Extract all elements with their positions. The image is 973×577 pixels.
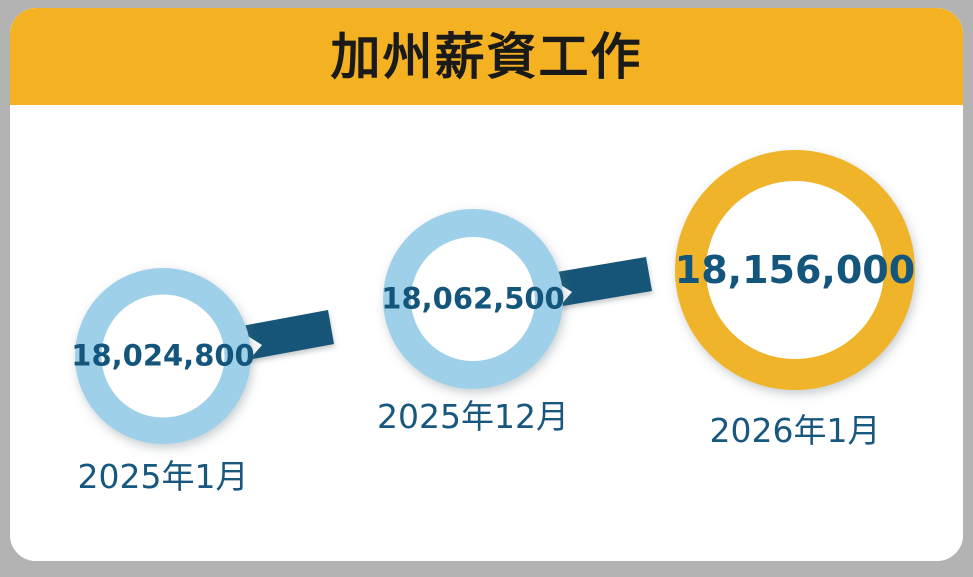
node-caption-1: 2025年1月	[78, 460, 249, 493]
slide-card: 加州薪資工作	[10, 8, 963, 561]
node-caption-2: 2025年12月	[377, 400, 569, 433]
node-value-1: 18,024,800	[71, 342, 254, 371]
infographic-root: 加州薪資工作	[0, 0, 973, 577]
node-value-3: 18,156,000	[675, 251, 915, 289]
node-value-2: 18,062,500	[381, 285, 564, 314]
node-caption-3: 2026年1月	[710, 414, 881, 447]
